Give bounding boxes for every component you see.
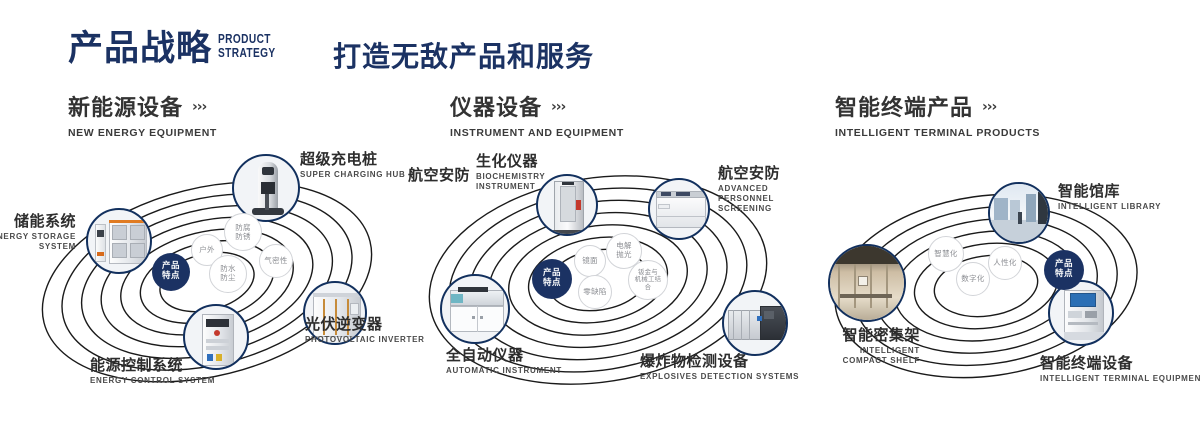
caption-cn: 超级充电桩 xyxy=(300,150,406,168)
caption-cn: 智能终端设备 xyxy=(1040,354,1200,372)
feature-bubble-text: 钣金与 机械工结合 xyxy=(629,269,667,291)
caption-en: INTELLIGENT LIBRARY xyxy=(1058,202,1161,212)
page-title-english-line2: STRATEGY xyxy=(218,46,276,60)
page-title: 产品战略 xyxy=(68,27,212,71)
page-title-english-line1: PRODUCT xyxy=(218,32,276,46)
node-super-charging-hub[interactable] xyxy=(232,154,300,222)
core-label-line2: 特点 xyxy=(543,278,561,288)
caption-cn: 航空安防 xyxy=(718,164,800,182)
caption-cn: 储能系统 xyxy=(0,212,76,230)
automatic-analyzer-icon xyxy=(442,276,508,342)
node-automatic-instrument[interactable] xyxy=(440,274,510,344)
core-label-line2: 特点 xyxy=(1055,269,1073,279)
energy-storage-cabinet-icon xyxy=(88,210,150,272)
page-header: 产品战略 PRODUCT STRATEGY 打造无敌产品和服务 xyxy=(0,0,1200,86)
feature-bubble-text: 电解 抛光 xyxy=(616,242,632,259)
caption-en: SUPER CHARGING HUB xyxy=(300,170,406,180)
core-label-line2: 特点 xyxy=(162,271,180,281)
node-energy-storage-system[interactable] xyxy=(86,208,152,274)
diagram-new-energy: 产品特点 户外 防腐 防锈 防水 防尘 气密性 储能系统 ENERGY STOR… xyxy=(0,150,400,410)
feature-bubble: 防腐 防锈 xyxy=(224,213,262,251)
section-heading-cn-text: 新能源设备 xyxy=(68,96,183,121)
node-intelligent-compact-shelf[interactable] xyxy=(828,244,906,322)
self-service-kiosk-icon xyxy=(1050,282,1112,344)
core-label-line1: 产品 xyxy=(162,261,180,271)
caption-en: ENERGY CONTROL SYSTEM xyxy=(90,376,215,386)
caption-en: BIOCHEMISTRY INSTRUMENT xyxy=(476,172,532,192)
node-intelligent-terminal-equipment[interactable] xyxy=(1048,280,1114,346)
feature-bubble: 人性化 xyxy=(988,246,1022,280)
core-label-line1: 产品 xyxy=(1055,259,1073,269)
caption-advanced-personnel-screening: 航空安防 ADVANCED PERSONNEL SCREENING xyxy=(718,164,800,214)
diagram-intelligent-terminal: 产品特点 智慧化 数字化 人性化 智能馆库 INTELLIGENT LIBRAR… xyxy=(800,150,1200,410)
section-heading-cn: 仪器设备››› xyxy=(450,94,624,122)
library-interior-icon xyxy=(990,184,1048,242)
feature-bubble: 防水 防尘 xyxy=(209,255,247,293)
caption-energy-storage-system: 储能系统 ENERGY STORAGE SYSTEM xyxy=(0,212,76,252)
product-strategy-infographic: 产品战略 PRODUCT STRATEGY 打造无敌产品和服务 新能源设备›››… xyxy=(0,0,1200,422)
caption-biochemistry-instrument: 生化仪器 BIOCHEMISTRY INSTRUMENT xyxy=(476,152,538,192)
caption-cn: 智能馆库 xyxy=(1058,182,1161,200)
section-heading-en: INSTRUMENT AND EQUIPMENT xyxy=(450,127,624,139)
caption-intelligent-terminal-equipment: 智能终端设备 INTELLIGENT TERMINAL EQUIPMENT xyxy=(1040,354,1200,384)
section-heading-new-energy: 新能源设备››› NEW ENERGY EQUIPMENT xyxy=(68,94,217,139)
compact-shelving-icon xyxy=(830,246,904,320)
caption-super-charging-hub: 超级充电桩 SUPER CHARGING HUB xyxy=(300,150,406,180)
screening-machine-icon xyxy=(650,180,708,238)
caption-cn: 全自动仪器 xyxy=(446,346,562,364)
feature-bubble: 数字化 xyxy=(956,262,990,296)
biochemistry-scanner-icon xyxy=(538,176,596,234)
core-label-line1: 产品 xyxy=(543,268,561,278)
page-headline: 打造无敌产品和服务 xyxy=(333,35,594,75)
caption-energy-control-system: 能源控制系统 ENERGY CONTROL SYSTEM xyxy=(90,356,215,386)
caption-en: EXPLOSIVES DETECTION SYSTEMS xyxy=(640,372,799,382)
caption-en: ENERGY STORAGE SYSTEM xyxy=(0,232,76,252)
section-heading-cn: 智能终端产品››› xyxy=(835,94,1040,122)
feature-bubble-text: 防腐 防锈 xyxy=(235,223,251,241)
caption-intelligent-library: 智能馆库 INTELLIGENT LIBRARY xyxy=(1058,182,1161,212)
section-heading-intelligent-terminal: 智能终端产品››› INTELLIGENT TERMINAL PRODUCTS xyxy=(835,94,1040,139)
feature-bubble: 零缺陷 xyxy=(578,275,612,309)
caption-cn: 航空安防 xyxy=(408,166,470,184)
chevron-right-icon: ››› xyxy=(192,94,206,120)
node-intelligent-library[interactable] xyxy=(988,182,1050,244)
chevron-right-icon: ››› xyxy=(982,94,996,120)
node-biochemistry-instrument[interactable] xyxy=(536,174,598,236)
section-heading-cn-text: 智能终端产品 xyxy=(835,96,973,121)
feature-bubble: 智慧化 xyxy=(928,236,964,272)
page-title-english: PRODUCT STRATEGY xyxy=(218,32,276,60)
section-heading-instrument: 仪器设备››› INSTRUMENT AND EQUIPMENT xyxy=(450,94,624,139)
feature-bubble: 钣金与 机械工结合 xyxy=(628,260,668,300)
section-heading-en: NEW ENERGY EQUIPMENT xyxy=(68,127,217,139)
core-badge-instrument: 产品特点 xyxy=(532,259,572,299)
caption-cn: 生化仪器 xyxy=(476,152,538,170)
caption-intelligent-compact-shelf: 智能密集架 INTELLIGENT COMPACT SHELF xyxy=(760,326,920,366)
caption-en: ADVANCED PERSONNEL SCREENING xyxy=(718,184,800,214)
section-heading-en: INTELLIGENT TERMINAL PRODUCTS xyxy=(835,127,1040,139)
caption-en: INTELLIGENT TERMINAL EQUIPMENT xyxy=(1040,374,1200,384)
section-heading-cn: 新能源设备››› xyxy=(68,94,217,122)
caption-aviation-security-extra: 航空安防 xyxy=(408,166,470,184)
caption-cn: 能源控制系统 xyxy=(90,356,215,374)
caption-cn: 智能密集架 xyxy=(760,326,920,344)
caption-en: INTELLIGENT COMPACT SHELF xyxy=(828,346,920,366)
feature-bubble: 气密性 xyxy=(259,244,293,278)
core-badge-new-energy: 产品特点 xyxy=(152,253,190,291)
feature-bubble-text: 防水 防尘 xyxy=(220,265,236,282)
node-advanced-personnel-screening[interactable] xyxy=(648,178,710,240)
caption-automatic-instrument: 全自动仪器 AUTOMATIC INSTRUMENT xyxy=(446,346,562,376)
core-badge-intelligent-terminal: 产品特点 xyxy=(1044,250,1084,290)
caption-en: AUTOMATIC INSTRUMENT xyxy=(446,366,562,376)
section-heading-cn-text: 仪器设备 xyxy=(450,96,542,121)
chevron-right-icon: ››› xyxy=(551,94,565,120)
charging-pile-icon xyxy=(234,156,298,220)
feature-bubble: 镜面 xyxy=(574,245,606,277)
diagram-instrument: 产品特点 镜面 电解 抛光 钣金与 机械工结合 零缺陷 航空安防 生化仪器 BI… xyxy=(400,150,800,410)
